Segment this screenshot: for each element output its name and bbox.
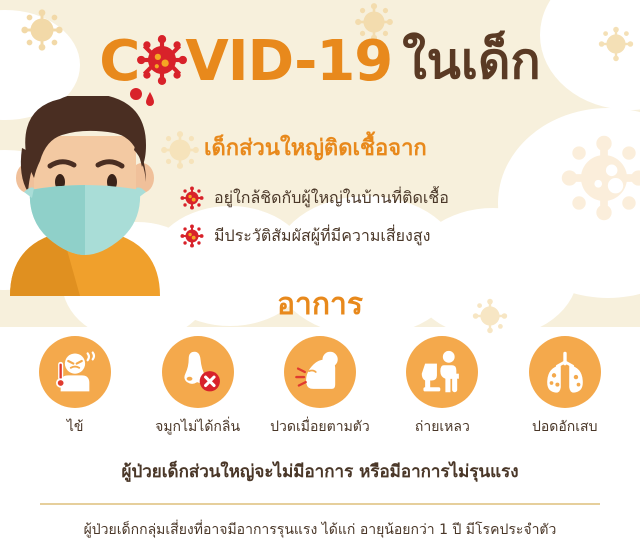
symptom-item-loss-of-smell: จมูกไม่ได้กลิ่น <box>139 336 257 438</box>
symptom-item-pneumonia: ปอดอักเสบ <box>506 336 624 438</box>
title-text-vid: VID-19 <box>185 29 392 94</box>
virus-bullet-icon <box>180 224 204 248</box>
footer-note-strong: ผู้ป่วยเด็กส่วนใหญ่จะไม่มีอาการ หรือมีอา… <box>0 458 640 485</box>
list-item-label: มีประวัติสัมผัสผู้ที่มีความเสี่ยงสูง <box>214 226 430 247</box>
fever-thermometer-icon <box>39 336 111 408</box>
symptoms-section-heading: อาการ <box>0 281 640 328</box>
body-ache-cough-icon <box>284 336 356 408</box>
list-item: มีประวัติสัมผัสผู้ที่มีความเสี่ยงสูง <box>180 224 620 248</box>
virus-bullet-icon <box>180 186 204 210</box>
footer-divider <box>40 503 600 505</box>
coronavirus-icon <box>136 34 188 86</box>
symptom-item-body-ache: ปวดเมื่อยตามตัว <box>261 336 379 438</box>
footer-note-small: ผู้ป่วยเด็กกลุ่มเสี่ยงที่อาจมีอาการรุนแร… <box>0 519 640 541</box>
list-item: อยู่ใกล้ชิดกับผู้ใหญ่ในบ้านที่ติดเชื้อ <box>180 186 620 210</box>
symptom-label: ปอดอักเสบ <box>506 416 624 438</box>
title-letter-c: C <box>99 29 139 94</box>
infection-bullet-list: อยู่ใกล้ชิดกับผู้ใหญ่ในบ้านที่ติดเชื้อ <box>180 186 620 262</box>
symptom-label: ปวดเมื่อยตามตัว <box>261 416 379 438</box>
symptom-label: ถ่ายเหลว <box>383 416 501 438</box>
symptom-label: จมูกไม่ได้กลิ่น <box>139 416 257 438</box>
poster-title: C VID-19ในเด็ก <box>0 22 640 101</box>
symptom-item-diarrhea: ถ่ายเหลว <box>383 336 501 438</box>
diarrhea-toilet-icon <box>406 336 478 408</box>
nose-no-smell-icon <box>162 336 234 408</box>
list-item-label: อยู่ใกล้ชิดกับผู้ใหญ่ในบ้านที่ติดเชื้อ <box>214 188 449 209</box>
symptom-label: ไข้ <box>16 416 134 438</box>
infection-section-heading: เด็กส่วนใหญ่ติดเชื้อจาก <box>204 130 427 165</box>
symptom-item-fever: ไข้ <box>16 336 134 438</box>
symptoms-icon-row: ไข้ จมูกไม่ได้กลิ่น <box>0 336 640 438</box>
infographic-poster: C VID-19ในเด็ก <box>0 0 640 549</box>
boy-wearing-mask-illustration <box>2 96 168 296</box>
title-thai-text: ในเด็ก <box>402 32 540 90</box>
pneumonia-lungs-icon <box>529 336 601 408</box>
